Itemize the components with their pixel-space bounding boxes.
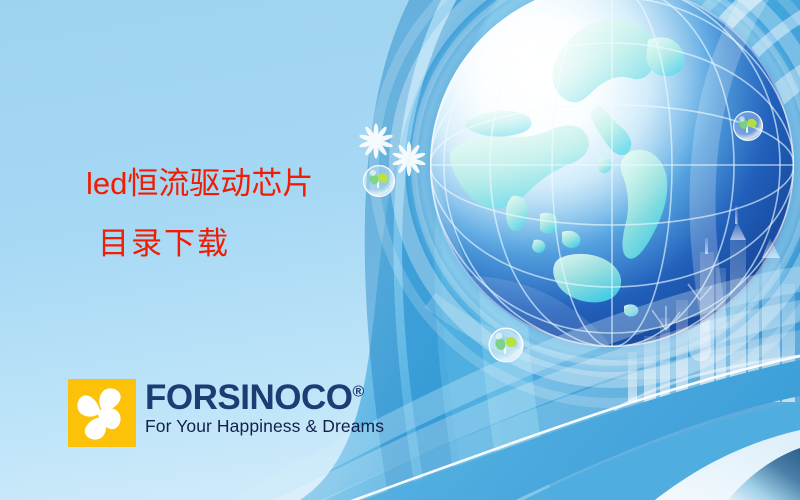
banner-image: led恒流驱动芯片 目录下载 FORSINOCO® For Your Happi…	[0, 0, 800, 500]
logo-tagline: For Your Happiness & Dreams	[145, 417, 384, 436]
headline-line-2: 目录下载	[98, 228, 313, 259]
logo-wordmark-text: FORSINOCO	[145, 378, 352, 417]
logo-wordmark: FORSINOCO®	[145, 380, 384, 416]
headline: led恒流驱动芯片 目录下载	[86, 168, 313, 259]
headline-line-1: led恒流驱动芯片	[86, 168, 313, 199]
company-logo: FORSINOCO® For Your Happiness & Dreams	[68, 379, 384, 447]
four-petal-flower-icon	[68, 379, 136, 447]
registered-trademark-icon: ®	[352, 383, 364, 400]
logo-text-block: FORSINOCO® For Your Happiness & Dreams	[145, 380, 384, 436]
